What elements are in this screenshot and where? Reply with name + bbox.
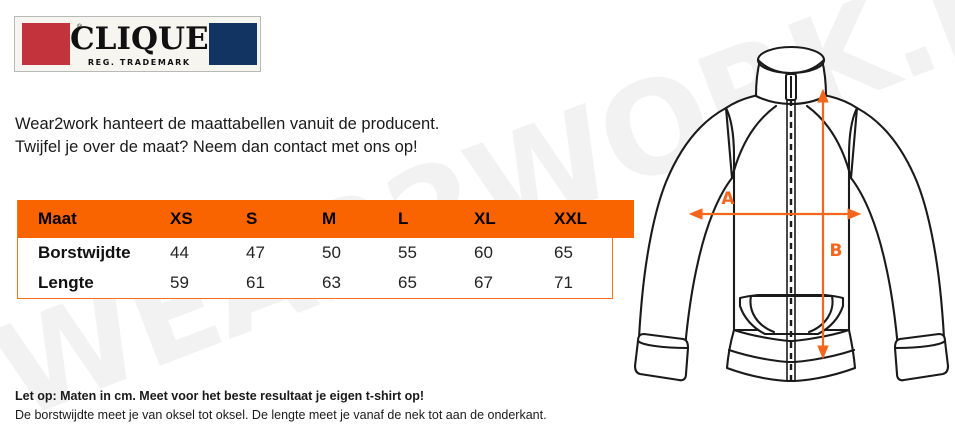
- row-label-lengte: Lengte: [18, 268, 170, 298]
- logo-wordmark: CLIQUE: [70, 24, 209, 55]
- size-table: Maat XS S M L XL XXL Borstwijdte 44 47 5…: [17, 200, 613, 299]
- cell-borstwijdte-m: 50: [322, 238, 398, 268]
- logo-subtext: REG. TRADEMARK: [88, 58, 191, 67]
- cell-lengte-s: 61: [246, 268, 322, 298]
- measure-a-label: A: [721, 189, 735, 209]
- row-label-borstwijdte: Borstwijdte: [18, 238, 170, 268]
- cell-borstwijdte-l: 55: [398, 238, 474, 268]
- table-header-row: Maat XS S M L XL XXL: [18, 200, 634, 238]
- logo-block-red: [22, 23, 70, 65]
- registered-trademark-icon: ®: [77, 24, 82, 31]
- cell-borstwijdte-xl: 60: [474, 238, 554, 268]
- sleeve-left: [639, 108, 732, 348]
- garment-illustration: A B: [628, 30, 955, 390]
- measure-b-label: B: [830, 241, 843, 261]
- footer-note: Let op: Maten in cm. Meet voor het beste…: [15, 387, 547, 425]
- logo-block-blue: [209, 23, 257, 65]
- cell-lengte-l: 65: [398, 268, 474, 298]
- cell-lengte-xxl: 71: [554, 268, 634, 298]
- footer-line-1: Let op: Maten in cm. Meet voor het beste…: [15, 387, 547, 406]
- header-cell-xl: XL: [474, 200, 554, 238]
- intro-line-2: Twijfel je over de maat? Neem dan contac…: [15, 136, 439, 159]
- measure-a-arrowhead-right: [848, 209, 860, 219]
- footer-line-2: De borstwijdte meet je van oksel tot oks…: [15, 406, 547, 425]
- cell-lengte-m: 63: [322, 268, 398, 298]
- collar-top-ellipse: [758, 47, 824, 73]
- logo-center: ® CLIQUE REG. TRADEMARK: [70, 17, 209, 71]
- cell-borstwijdte-xxl: 65: [554, 238, 634, 268]
- table-row: Borstwijdte 44 47 50 55 60 65: [18, 238, 634, 268]
- header-cell-xs: XS: [170, 200, 246, 238]
- header-cell-m: M: [322, 200, 398, 238]
- header-cell-s: S: [246, 200, 322, 238]
- header-cell-xxl: XXL: [554, 200, 634, 238]
- cell-lengte-xs: 59: [170, 268, 246, 298]
- cuff-right: [895, 334, 948, 380]
- table-row: Lengte 59 61 63 65 67 71: [18, 268, 634, 298]
- cuff-left: [635, 334, 688, 380]
- header-cell-l: L: [398, 200, 474, 238]
- header-cell-maat: Maat: [18, 200, 170, 238]
- cell-lengte-xl: 67: [474, 268, 554, 298]
- cell-borstwijdte-s: 47: [246, 238, 322, 268]
- intro-line-1: Wear2work hanteert de maattabellen vanui…: [15, 113, 439, 136]
- intro-text: Wear2work hanteert de maattabellen vanui…: [15, 113, 439, 160]
- brand-logo: ® CLIQUE REG. TRADEMARK: [14, 16, 261, 72]
- cell-borstwijdte-xs: 44: [170, 238, 246, 268]
- sleeve-right: [851, 108, 944, 348]
